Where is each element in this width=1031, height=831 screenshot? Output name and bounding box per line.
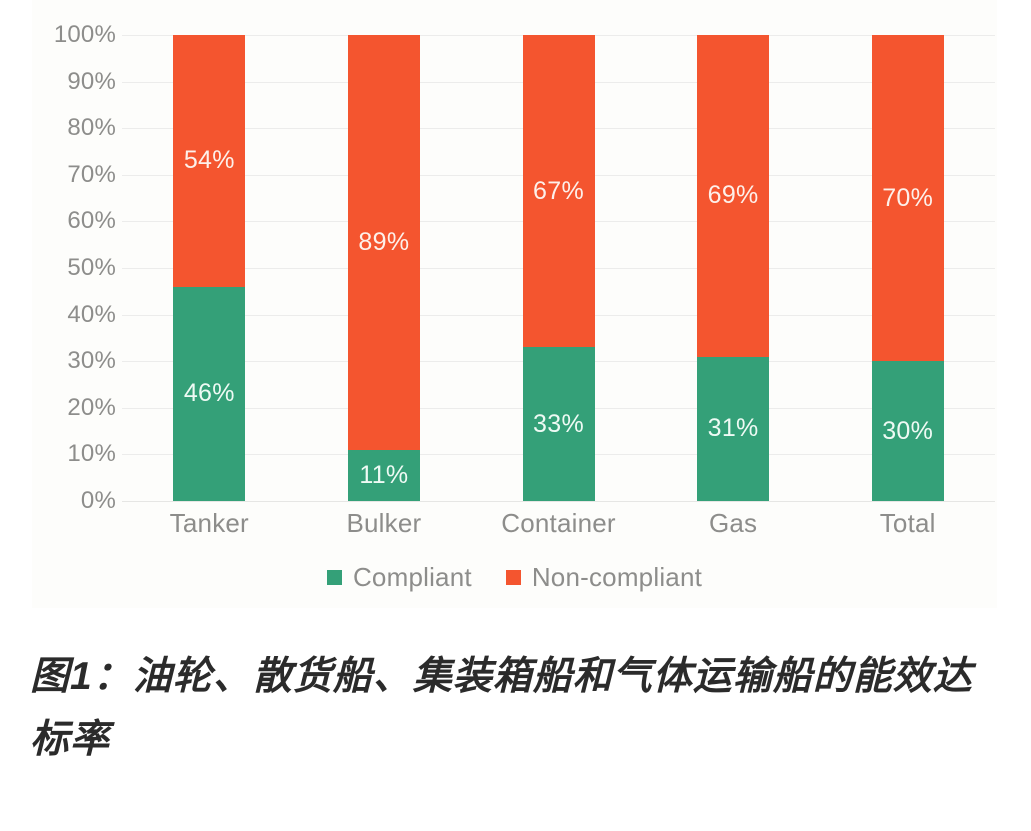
bar-value-label: 11% [359, 461, 408, 490]
bar-segment-compliant[interactable]: 30% [872, 361, 944, 501]
y-axis-tick-label: 10% [42, 440, 116, 468]
bar-segment-compliant[interactable]: 11% [348, 450, 420, 501]
bar-segment-non-compliant[interactable]: 70% [872, 35, 944, 361]
legend-item[interactable]: Compliant [327, 562, 472, 593]
bar-value-label: 46% [184, 379, 235, 408]
legend-item-label: Compliant [353, 562, 472, 593]
y-axis-tick-label: 100% [42, 21, 116, 49]
bar-value-label: 33% [533, 410, 584, 439]
legend-item-label: Non-compliant [532, 562, 702, 593]
bar-group[interactable]: 11%89% [348, 35, 420, 501]
x-axis-tick-label: Container [501, 508, 616, 539]
bar-segment-non-compliant[interactable]: 67% [523, 35, 595, 347]
bar-segment-non-compliant[interactable]: 69% [697, 35, 769, 357]
x-axis: TankerBulkerContainerGasTotal [122, 508, 995, 552]
x-axis-tick-label: Total [880, 508, 936, 539]
y-axis-tick-label: 90% [42, 68, 116, 96]
y-axis-tick-label: 60% [42, 207, 116, 235]
y-axis-tick-label: 70% [42, 161, 116, 189]
bar-value-label: 70% [882, 184, 933, 213]
x-axis-tick-label: Bulker [346, 508, 421, 539]
bar-value-label: 67% [533, 177, 584, 206]
figure-card: 0%10%20%30%40%50%60%70%80%90%100% 46%54%… [32, 0, 997, 608]
y-axis-tick-label: 50% [42, 254, 116, 282]
bar-segment-compliant[interactable]: 46% [173, 287, 245, 501]
bar-group[interactable]: 30%70% [872, 35, 944, 501]
bar-value-label: 30% [882, 417, 933, 446]
square-swatch [327, 570, 342, 585]
gridline [122, 501, 995, 502]
y-axis-tick-label: 40% [42, 301, 116, 329]
chart-legend: CompliantNon-compliant [32, 562, 997, 593]
bar-group[interactable]: 31%69% [697, 35, 769, 501]
bar-value-label: 89% [358, 228, 409, 257]
bar-segment-non-compliant[interactable]: 54% [173, 35, 245, 287]
y-axis-tick-label: 80% [42, 114, 116, 142]
bar-group[interactable]: 46%54% [173, 35, 245, 501]
bar-segment-non-compliant[interactable]: 89% [348, 35, 420, 450]
legend-item[interactable]: Non-compliant [506, 562, 702, 593]
y-axis-tick-label: 0% [42, 487, 116, 515]
bar-value-label: 54% [184, 146, 235, 175]
bar-segment-compliant[interactable]: 31% [697, 357, 769, 501]
bar-segment-compliant[interactable]: 33% [523, 347, 595, 501]
figure-caption: 图1：油轮、散货船、集装箱船和气体运输船的能效达标率 [30, 645, 1010, 771]
y-axis: 0%10%20%30%40%50%60%70%80%90%100% [32, 35, 116, 501]
y-axis-tick-label: 30% [42, 347, 116, 375]
bars-layer: 46%54%11%89%33%67%31%69%30%70% [122, 35, 995, 501]
x-axis-tick-label: Gas [709, 508, 757, 539]
x-axis-tick-label: Tanker [170, 508, 249, 539]
bar-value-label: 69% [708, 181, 759, 210]
y-axis-tick-label: 20% [42, 394, 116, 422]
bar-group[interactable]: 33%67% [523, 35, 595, 501]
square-swatch [506, 570, 521, 585]
bar-value-label: 31% [708, 414, 759, 443]
